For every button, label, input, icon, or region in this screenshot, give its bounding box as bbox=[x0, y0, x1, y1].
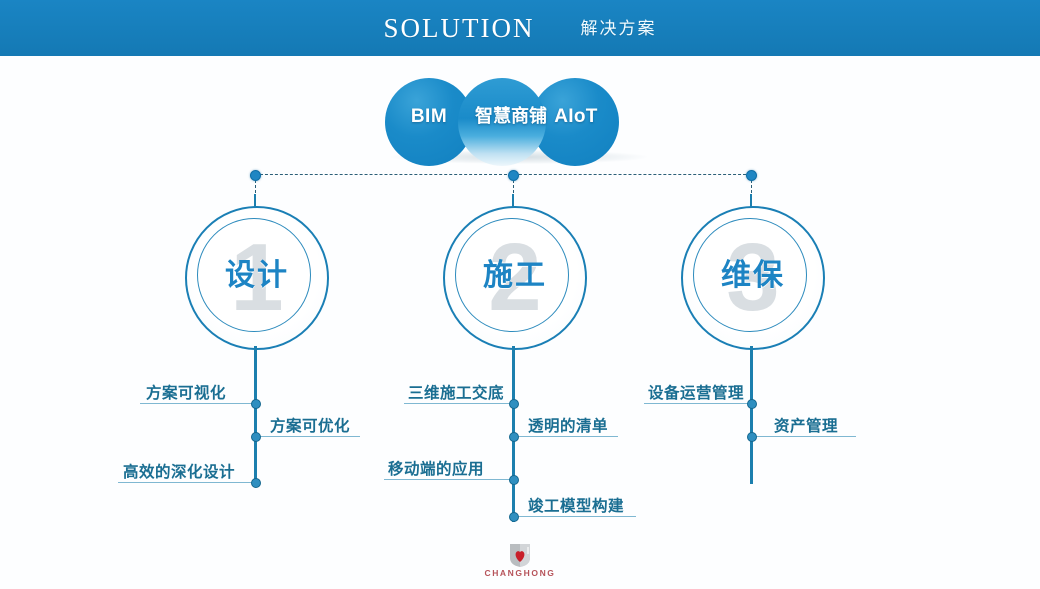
branch-item[interactable]: 透明的清单 bbox=[514, 407, 618, 437]
branch-item[interactable]: 高效的深化设计 bbox=[118, 453, 256, 483]
branch-underline bbox=[256, 436, 360, 437]
branch-label: 移动端的应用 bbox=[388, 462, 484, 478]
branch-label: 设备运营管理 bbox=[648, 386, 744, 402]
branch-item[interactable]: 三维施工交底 bbox=[404, 374, 514, 404]
connector-node-1 bbox=[250, 170, 261, 181]
brand-logo: CHANGHONG bbox=[470, 542, 570, 586]
pillar-label-design: 设计 bbox=[187, 255, 327, 297]
slide-header: SOLUTION 解决方案 bbox=[0, 0, 1040, 56]
branch-dot bbox=[747, 432, 757, 442]
branch-item[interactable]: 方案可优化 bbox=[256, 407, 360, 437]
slide-canvas: SOLUTION 解决方案 BIM 智慧商铺 AIoT 1 设计 2 施工 3 bbox=[0, 0, 1040, 589]
changhong-logo-text: CHANGHONG bbox=[470, 569, 570, 578]
page-title-cn: 解决方案 bbox=[581, 20, 657, 37]
branch-label: 资产管理 bbox=[774, 419, 838, 435]
branch-dot bbox=[509, 475, 519, 485]
bubble-label-smart-shop: 智慧商铺 bbox=[475, 107, 529, 125]
connector-node-3 bbox=[746, 170, 757, 181]
branch-underline bbox=[118, 482, 256, 483]
pillar-circle-construction[interactable]: 2 施工 bbox=[443, 206, 587, 350]
bubble-label-bim: BIM bbox=[397, 107, 461, 126]
changhong-logo-icon bbox=[505, 542, 535, 568]
branch-underline bbox=[140, 403, 256, 404]
branch-item[interactable]: 移动端的应用 bbox=[384, 450, 514, 480]
branch-label: 方案可视化 bbox=[146, 386, 226, 402]
branch-item[interactable]: 设备运营管理 bbox=[644, 374, 752, 404]
header-title-group: SOLUTION 解决方案 bbox=[0, 0, 1040, 56]
branch-underline bbox=[752, 436, 856, 437]
branch-dot bbox=[509, 432, 519, 442]
branch-underline bbox=[404, 403, 514, 404]
pillar-label-maintenance: 维保 bbox=[683, 255, 823, 297]
branch-label: 高效的深化设计 bbox=[123, 465, 235, 481]
bubble-label-aiot: AIoT bbox=[541, 107, 611, 126]
pillar-circle-design[interactable]: 1 设计 bbox=[185, 206, 329, 350]
branch-label: 方案可优化 bbox=[270, 419, 350, 435]
branch-underline bbox=[384, 479, 514, 480]
concept-bubble-group: BIM 智慧商铺 AIoT bbox=[385, 78, 655, 173]
branch-label: 竣工模型构建 bbox=[528, 499, 624, 515]
branch-item[interactable]: 资产管理 bbox=[752, 407, 856, 437]
pillar-label-construction: 施工 bbox=[445, 255, 585, 297]
connector-node-2 bbox=[508, 170, 519, 181]
branch-dot bbox=[509, 512, 519, 522]
pillar-circle-maintenance[interactable]: 3 维保 bbox=[681, 206, 825, 350]
branch-label: 透明的清单 bbox=[528, 419, 608, 435]
page-title-en: SOLUTION bbox=[384, 15, 535, 42]
branch-dot bbox=[251, 478, 261, 488]
branch-label: 三维施工交底 bbox=[408, 386, 504, 402]
branch-underline bbox=[514, 516, 636, 517]
branch-underline bbox=[644, 403, 752, 404]
connector-dashed-horizontal bbox=[255, 174, 751, 175]
branch-item[interactable]: 竣工模型构建 bbox=[514, 487, 636, 517]
branch-item[interactable]: 方案可视化 bbox=[140, 374, 256, 404]
branch-underline bbox=[514, 436, 618, 437]
branch-dot bbox=[251, 432, 261, 442]
